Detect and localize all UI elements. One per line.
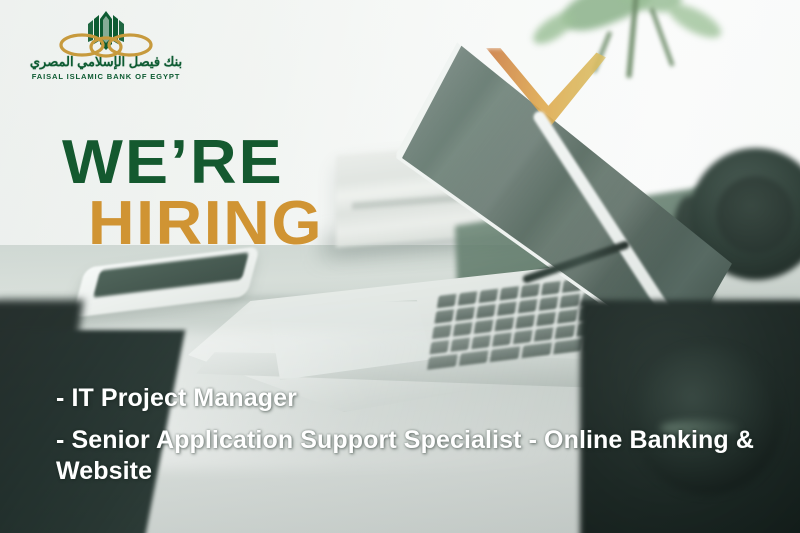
headline: WE’RE HIRING bbox=[62, 134, 314, 253]
job-list: - IT Project Manager - Senior Applicatio… bbox=[56, 383, 780, 488]
headphones-earcup-inner bbox=[716, 176, 794, 254]
gold-rings-icon bbox=[58, 32, 154, 58]
headline-line-hiring: HIRING bbox=[88, 194, 323, 254]
bank-logo: بنك فيصل الإسلامي المصري FAISAL ISLAMIC … bbox=[18, 8, 194, 81]
bank-emblem-icon bbox=[18, 8, 194, 54]
bank-name-english: FAISAL ISLAMIC BANK OF EGYPT bbox=[18, 72, 194, 81]
job-list-item: - IT Project Manager bbox=[56, 383, 780, 415]
job-list-item: - Senior Application Support Specialist … bbox=[56, 425, 780, 488]
hiring-poster: بنك فيصل الإسلامي المصري FAISAL ISLAMIC … bbox=[0, 0, 800, 533]
headline-line-were: WE’RE bbox=[62, 134, 324, 192]
